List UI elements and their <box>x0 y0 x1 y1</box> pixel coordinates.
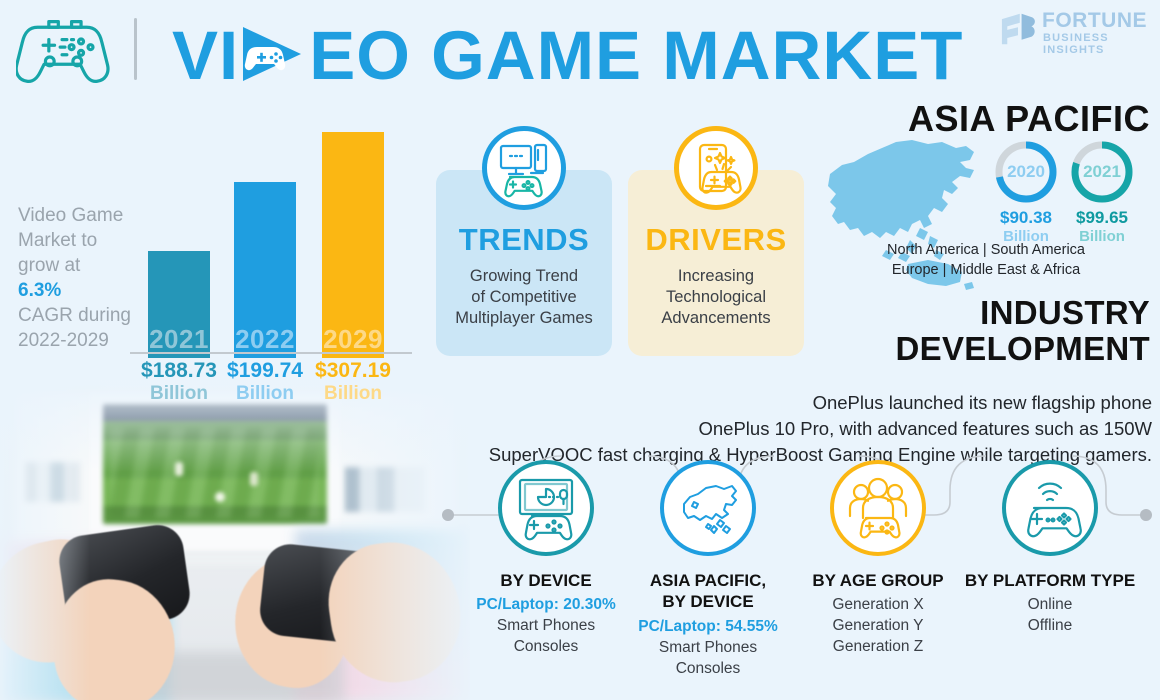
cagr-line-4: CAGR during <box>18 305 131 326</box>
fortune-brand-tagline: BUSINESS INSIGHTS <box>1043 32 1150 56</box>
by-platform-type-icon-circle <box>1002 460 1098 556</box>
asia-pacific-by-device-title-l1: ASIA PACIFIC, <box>650 571 766 590</box>
fortune-brand-name: FORTUNE <box>1042 9 1147 33</box>
gamepad-icon <box>16 14 112 86</box>
header-divider <box>134 18 137 80</box>
by-device-title: BY DEVICE <box>460 570 632 591</box>
cagr-line-5: 2022-2029 <box>18 330 109 351</box>
asia-pacific-by-device-item-2: Consoles <box>676 660 741 677</box>
bar-2021: 2021 <box>148 251 210 358</box>
infographic-canvas: VIEO GAME MARKET FORTUNE BUSINESS INSIGH… <box>0 0 1160 700</box>
by-platform-type-items: Online Offline <box>964 594 1136 636</box>
page-title: VIEO GAME MARKET <box>172 11 963 91</box>
by-platform-type-title: BY PLATFORM TYPE <box>964 570 1136 591</box>
by-age-group-item-2: Generation Y <box>832 617 923 634</box>
trends-body-l1: Growing Trend <box>470 267 578 285</box>
fortune-business-insights-logo: FORTUNE BUSINESS INSIGHTS <box>1000 10 1150 50</box>
fortune-mark-icon <box>1000 12 1036 46</box>
bar-2029: 2029 <box>322 132 384 358</box>
asia-pacific-by-device-title: ASIA PACIFIC, BY DEVICE <box>622 570 794 612</box>
industry-title-l2: DEVELOPMENT <box>896 330 1151 367</box>
drivers-title: DRIVERS <box>628 222 804 258</box>
by-age-group-title: BY AGE GROUP <box>792 570 964 591</box>
regions-line-2: Europe | Middle East & Africa <box>892 262 1080 278</box>
trends-body: Growing Trend of Competitive Multiplayer… <box>440 266 608 329</box>
donut-2021-value: $99.65 <box>1058 208 1146 228</box>
by-device-icon-circle <box>498 460 594 556</box>
cagr-line-2: Market to <box>18 230 97 251</box>
asia-pacific-by-device-item-1: Smart Phones <box>659 639 757 656</box>
by-device-item-2: Consoles <box>514 638 579 655</box>
donut-2020-value: $90.38 <box>982 208 1070 228</box>
phone-gamepad-icon <box>679 131 753 205</box>
bar-unit-2021: Billion <box>129 383 229 405</box>
photo-ball <box>215 492 225 502</box>
industry-title-l1: INDUSTRY <box>980 294 1150 331</box>
gamepad-play-icon <box>239 23 309 85</box>
industry-development-title: INDUSTRY DEVELOPMENT <box>620 295 1150 367</box>
asia-pacific-by-device-highlight: PC/Laptop: 54.55% <box>638 618 778 635</box>
bar-label-2029: $307.19 Billion <box>303 358 403 405</box>
by-age-group-icon-circle <box>830 460 926 556</box>
trends-title: TRENDS <box>436 222 612 258</box>
market-size-bar-chart: 2021 2022 2029 <box>130 118 420 358</box>
industry-body-l1: OnePlus launched its new flagship phone <box>813 392 1152 413</box>
connector-dot-end <box>1140 509 1152 521</box>
segmentation-row: BY DEVICE PC/Laptop: 20.30% Smart Phones… <box>430 450 1160 700</box>
bar-year-2029: 2029 <box>322 324 384 355</box>
donut-2020-year: 2020 <box>992 162 1060 182</box>
bar-year-2021: 2021 <box>148 324 210 355</box>
cagr-line-3: grow at <box>18 255 80 276</box>
screen-piechart-gamepad-icon <box>502 464 590 552</box>
drivers-body-l1: Increasing <box>678 267 754 285</box>
wireless-gamepad-icon <box>1006 464 1094 552</box>
photo-player-b <box>250 472 258 486</box>
monitor-gamepad-icon <box>487 131 561 205</box>
people-gamepad-icon <box>834 464 922 552</box>
asia-pacific-by-device-title-l2: BY DEVICE <box>662 592 753 611</box>
by-platform-type-item-1: Online <box>1028 596 1073 613</box>
trends-body-l3: Multiplayer Games <box>455 309 593 327</box>
cagr-line-1: Video Game <box>18 205 123 226</box>
bar-value-2022: $199.74 <box>215 358 315 383</box>
cagr-summary: Video Game Market to grow at 6.3% CAGR d… <box>18 203 140 353</box>
bar-label-2021: $188.73 Billion <box>129 358 229 405</box>
by-platform-type-item-2: Offline <box>1028 617 1073 634</box>
chart-value-labels: $188.73 Billion $199.74 Billion $307.19 … <box>130 358 420 406</box>
page-title-part-1: VI <box>172 16 239 96</box>
by-age-group-item-3: Generation Z <box>833 638 923 655</box>
bar-unit-2022: Billion <box>215 383 315 405</box>
by-age-group-item-1: Generation X <box>832 596 923 613</box>
header: VIEO GAME MARKET FORTUNE BUSINESS INSIGH… <box>0 0 1160 100</box>
asia-pacific-regions: North America | South America Europe | M… <box>820 240 1152 280</box>
asia-pacific-by-device-icon-circle <box>660 460 756 556</box>
by-device-item-1: Smart Phones <box>497 617 595 634</box>
trends-body-l2: of Competitive <box>471 288 576 306</box>
bar-value-2021: $188.73 <box>129 358 229 383</box>
trends-icon-circle <box>482 126 566 210</box>
by-device-highlight: PC/Laptop: 20.30% <box>476 596 616 613</box>
bar-unit-2029: Billion <box>303 383 403 405</box>
industry-body-l2: OnePlus 10 Pro, with advanced features s… <box>698 418 1152 439</box>
by-device-items: PC/Laptop: 20.30% Smart Phones Consoles <box>460 594 632 657</box>
page-title-part-2: EO GAME MARKET <box>309 16 963 96</box>
by-age-group-items: Generation X Generation Y Generation Z <box>792 594 964 657</box>
asia-map-icon <box>664 464 752 552</box>
bar-value-2029: $307.19 <box>303 358 403 383</box>
donut-2021-year: 2021 <box>1068 162 1136 182</box>
asia-pacific-by-device-items: PC/Laptop: 54.55% Smart Phones Consoles <box>622 616 794 679</box>
cagr-value: 6.3% <box>18 280 61 301</box>
bar-label-2022: $199.74 Billion <box>215 358 315 405</box>
regions-line-1: North America | South America <box>887 242 1085 258</box>
bar-year-2022: 2022 <box>234 324 296 355</box>
connector-dot-start <box>442 509 454 521</box>
chart-baseline <box>130 352 412 354</box>
bar-2022: 2022 <box>234 182 296 358</box>
